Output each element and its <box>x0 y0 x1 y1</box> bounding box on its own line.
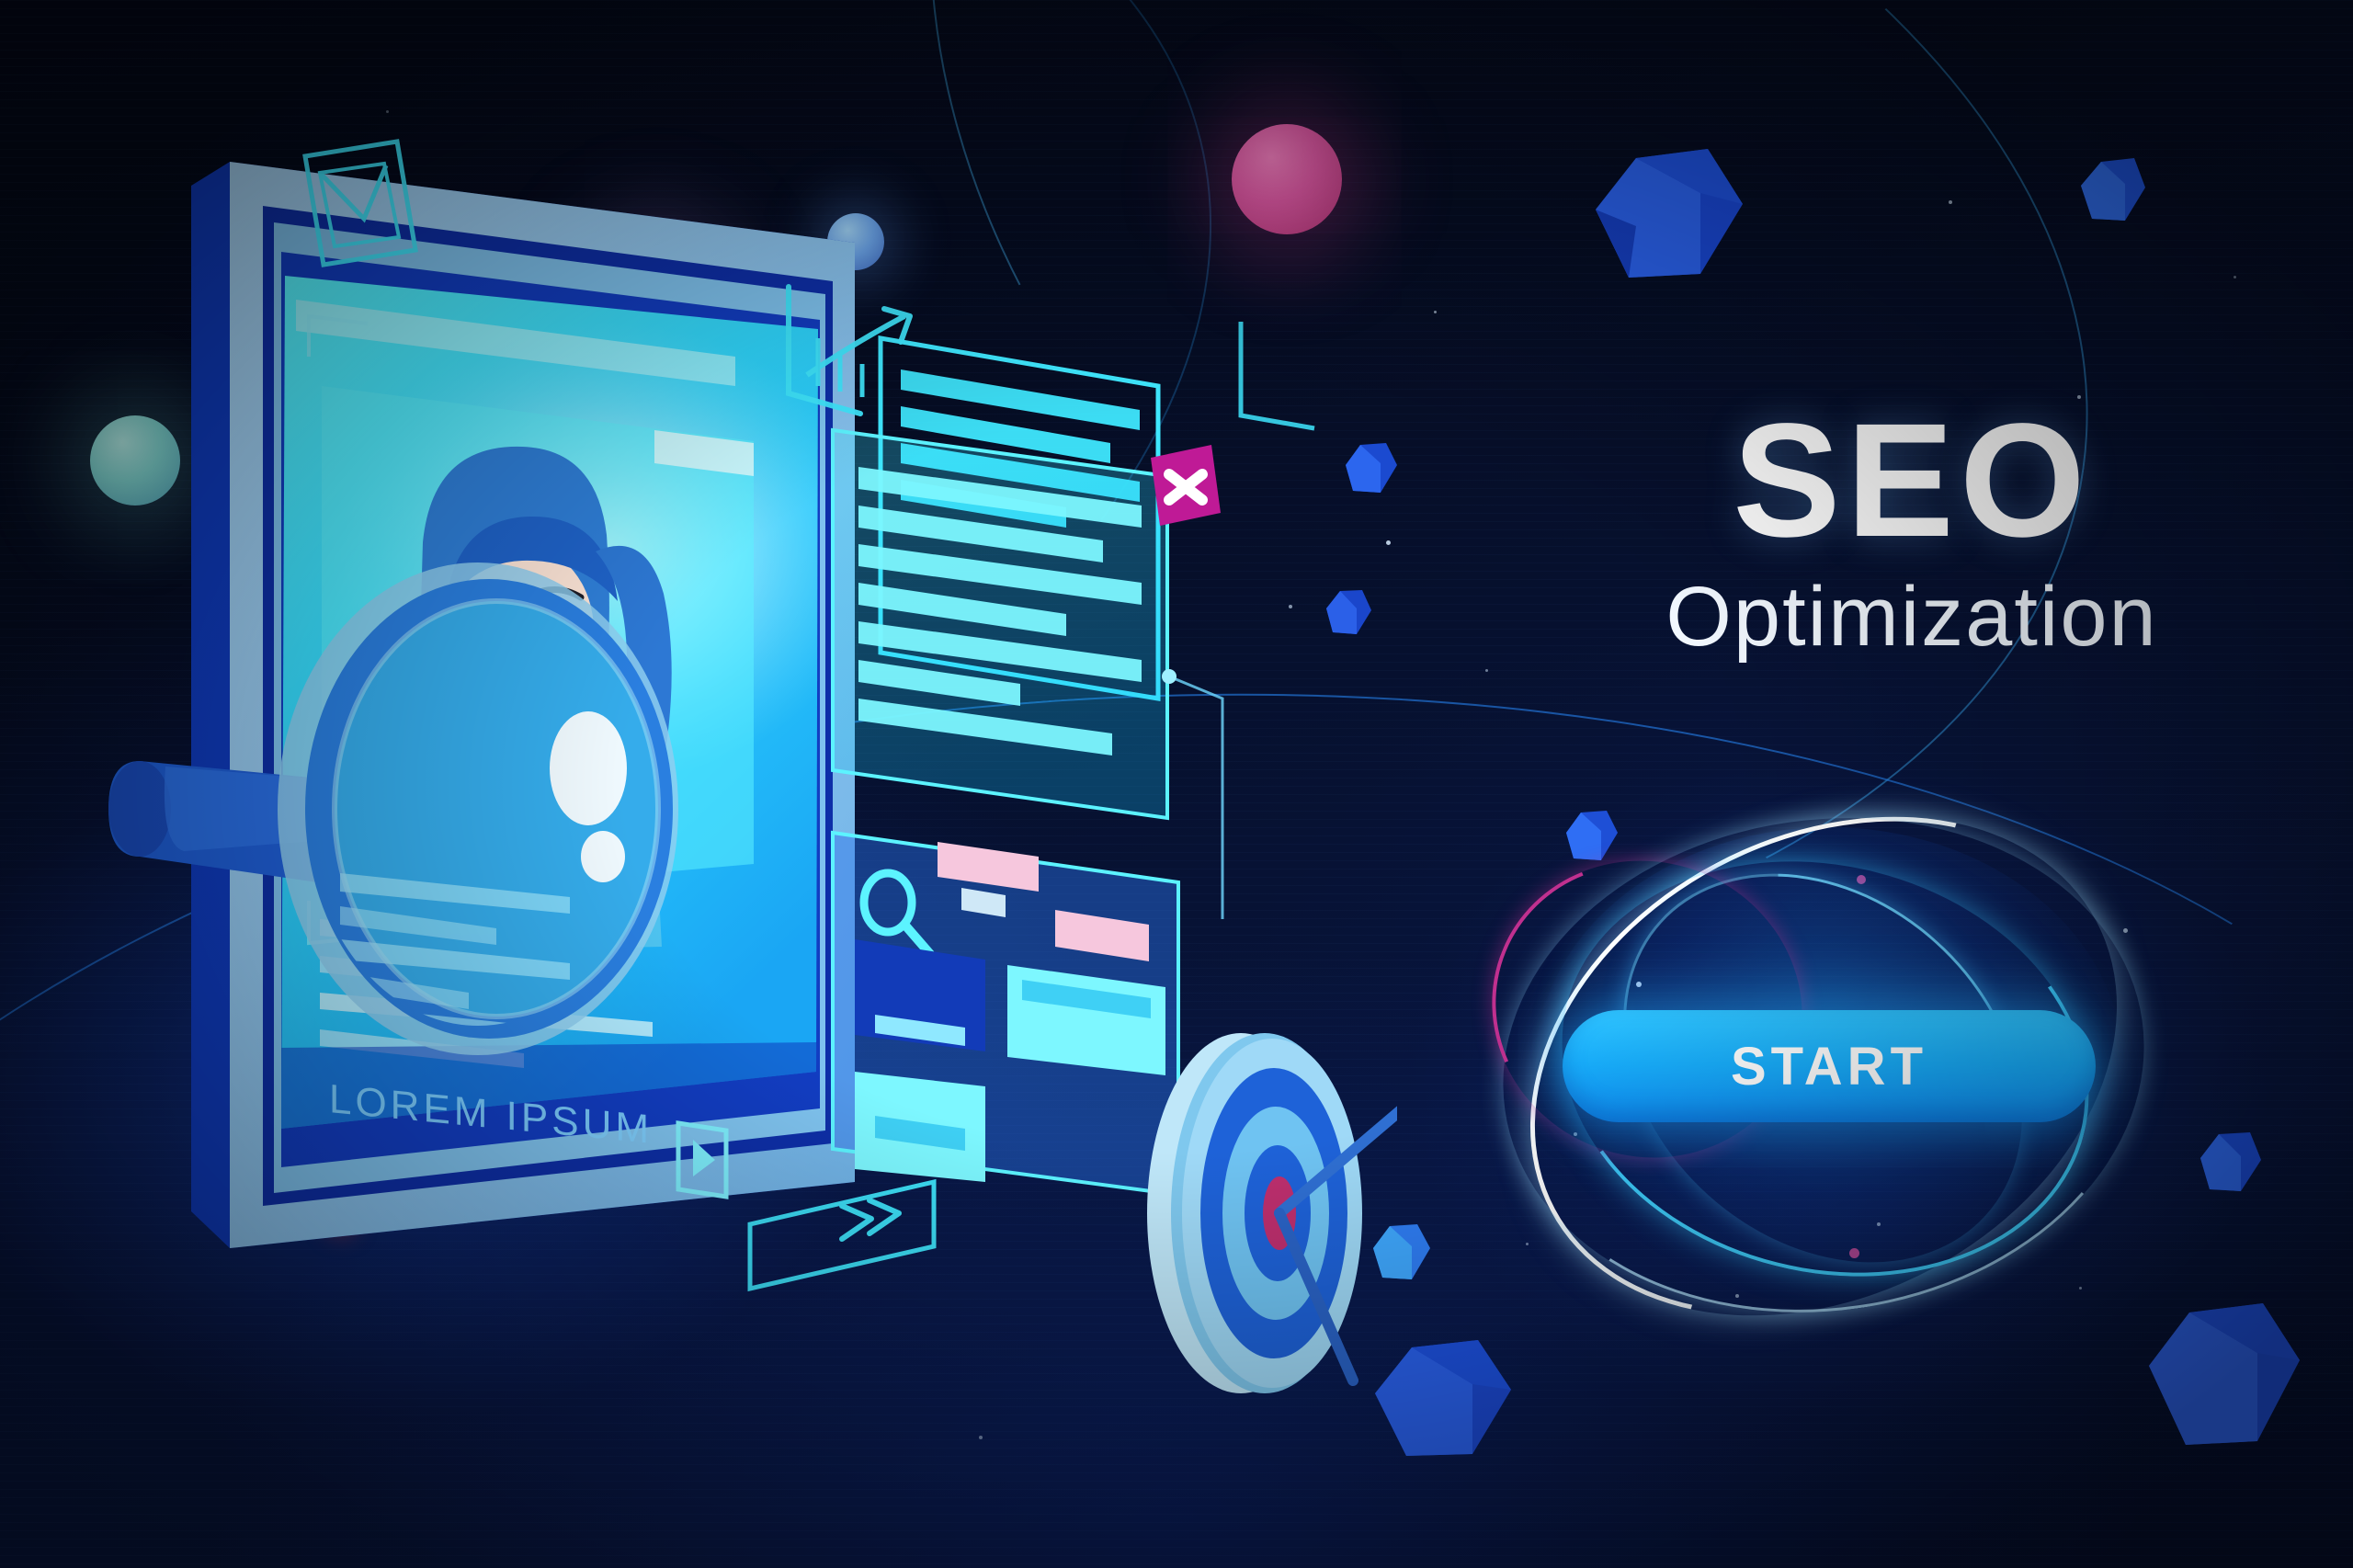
star <box>1434 311 1437 313</box>
start-button[interactable]: START <box>1563 1010 2096 1122</box>
search-content-panel[interactable] <box>833 833 1178 1195</box>
target-board <box>1147 1029 1397 1393</box>
cta-ring-magenta <box>1447 814 1847 1204</box>
star <box>979 1436 983 1439</box>
star <box>1949 200 1952 204</box>
star <box>2234 276 2236 278</box>
panel-connector-dot <box>1162 669 1176 684</box>
blue-gem-mid-right <box>2077 156 2149 226</box>
content-window-panel[interactable] <box>833 430 1167 818</box>
seo-landing-illustration: LOREM IPSUM <box>0 0 2353 1568</box>
blue-gem-top-right <box>1590 138 1746 285</box>
corner-bracket-icon <box>1241 322 1314 428</box>
hero-copy: SEO Optimization <box>1563 404 2261 662</box>
page-title: SEO <box>1563 404 2261 558</box>
page-subtitle: Optimization <box>1563 573 2261 662</box>
lens-highlight-small <box>581 831 625 882</box>
cta-section: START <box>1507 809 2151 1324</box>
star <box>1485 669 1488 672</box>
close-x-icon[interactable] <box>1151 445 1221 526</box>
fast-forward-icon[interactable] <box>750 1182 934 1289</box>
lens-highlight-large <box>550 711 627 825</box>
blue-gem-bottom-right <box>2142 1296 2307 1452</box>
blue-gem-right-small <box>2197 1131 2265 1197</box>
monitor-scene: LOREM IPSUM <box>92 110 1397 1415</box>
